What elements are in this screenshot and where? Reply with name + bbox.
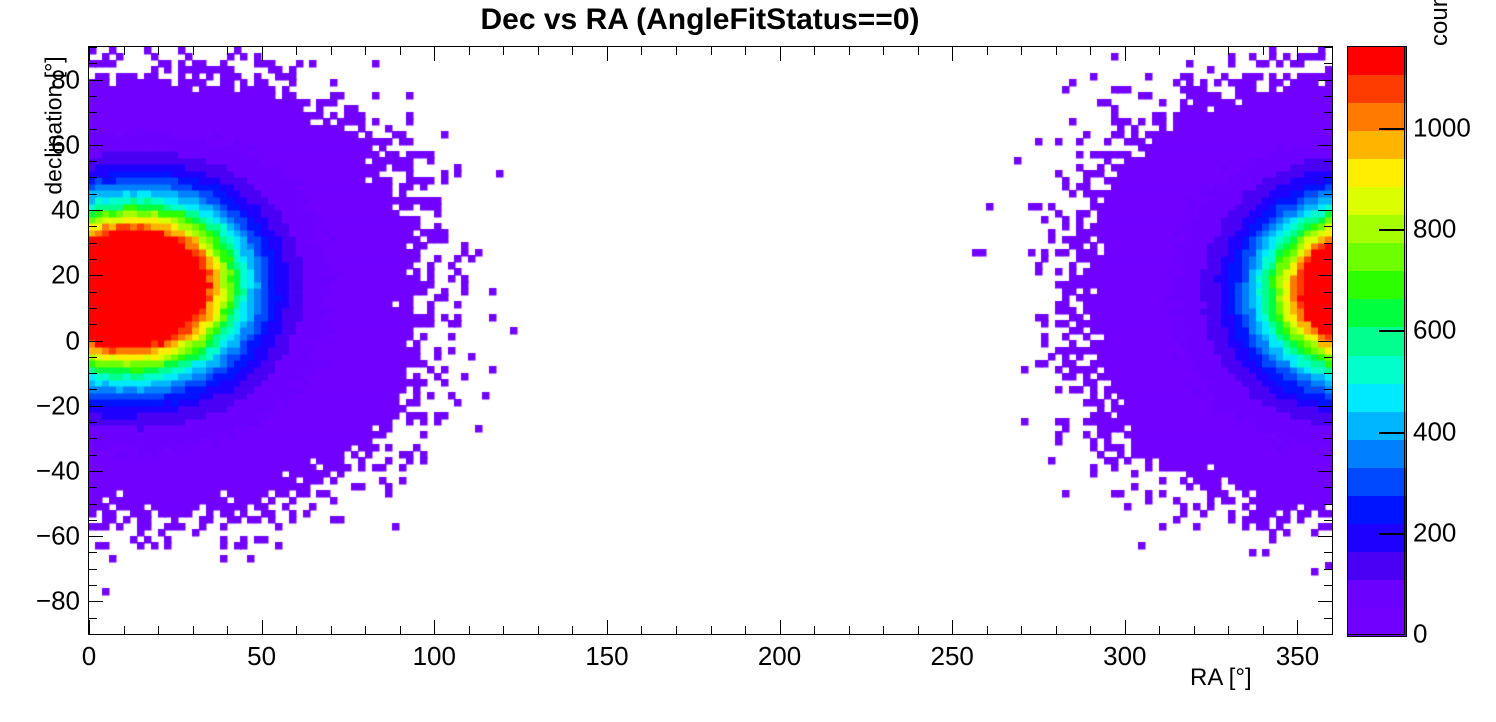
- y-tick: [89, 487, 97, 488]
- y-tick-right: [1324, 177, 1332, 178]
- x-tick-top: [158, 47, 159, 55]
- x-tick: [1194, 626, 1195, 634]
- color-scale-cell: [1348, 159, 1406, 187]
- x-tick: [89, 620, 90, 634]
- y-tick-label: −80: [2, 586, 80, 617]
- x-tick: [365, 626, 366, 634]
- color-scale-cell: [1348, 468, 1406, 496]
- y-tick-right: [1318, 471, 1332, 472]
- y-tick: [89, 520, 97, 521]
- y-tick: [89, 243, 97, 244]
- x-tick: [1263, 626, 1264, 634]
- y-tick: [89, 210, 103, 211]
- y-tick: [89, 601, 103, 602]
- z-tick-label: 400: [1413, 416, 1456, 447]
- y-tick-right: [1324, 324, 1332, 325]
- color-scale-cell: [1348, 75, 1406, 103]
- x-tick-top: [676, 47, 677, 55]
- color-scale-cell: [1348, 524, 1406, 552]
- x-tick-top: [538, 47, 539, 55]
- x-tick-top: [1297, 47, 1298, 61]
- y-tick-right: [1318, 80, 1332, 81]
- x-tick-label: 50: [247, 641, 276, 672]
- x-tick-top: [89, 47, 90, 61]
- x-tick-label: 150: [585, 641, 628, 672]
- z-axis-label: count: [1426, 0, 1454, 46]
- y-tick: [89, 308, 97, 309]
- y-tick-label: −40: [2, 455, 80, 486]
- y-tick-right: [1324, 47, 1332, 48]
- x-tick-label: 350: [1276, 641, 1319, 672]
- x-tick: [158, 626, 159, 634]
- heatmap-canvas: [89, 47, 1332, 634]
- x-tick: [1297, 620, 1298, 634]
- x-tick-top: [745, 47, 746, 55]
- x-tick-top: [1125, 47, 1126, 61]
- x-tick: [745, 626, 746, 634]
- x-tick-top: [469, 47, 470, 55]
- color-scale-cell: [1348, 412, 1406, 440]
- y-tick-label: 20: [2, 260, 80, 291]
- y-tick: [89, 177, 97, 178]
- color-scale-cell: [1348, 103, 1406, 131]
- color-scale-cell: [1348, 243, 1406, 271]
- y-tick-right: [1324, 504, 1332, 505]
- x-tick: [1056, 626, 1057, 634]
- y-tick: [89, 275, 103, 276]
- x-tick: [607, 620, 608, 634]
- y-tick: [89, 226, 97, 227]
- y-tick: [89, 471, 103, 472]
- y-tick: [89, 47, 97, 48]
- y-tick-right: [1324, 634, 1332, 635]
- color-scale-cell: [1348, 187, 1406, 215]
- y-tick-right: [1324, 422, 1332, 423]
- x-tick-top: [1056, 47, 1057, 55]
- y-tick: [89, 112, 97, 113]
- x-tick-top: [503, 47, 504, 55]
- x-tick-top: [1021, 47, 1022, 55]
- y-tick: [89, 145, 103, 146]
- x-tick-top: [262, 47, 263, 61]
- y-tick-right: [1324, 226, 1332, 227]
- color-scale-cell: [1348, 580, 1406, 608]
- x-tick-top: [1228, 47, 1229, 55]
- x-tick-top: [987, 47, 988, 55]
- y-tick: [89, 341, 103, 342]
- color-scale-cells: [1348, 47, 1406, 636]
- y-tick-right: [1324, 63, 1332, 64]
- x-tick: [124, 626, 125, 634]
- x-tick-top: [400, 47, 401, 55]
- x-tick: [331, 626, 332, 634]
- x-tick-top: [365, 47, 366, 55]
- x-tick-top: [1159, 47, 1160, 55]
- color-scale-cell: [1348, 299, 1406, 327]
- x-tick: [503, 626, 504, 634]
- x-tick-top: [572, 47, 573, 55]
- y-tick-right: [1324, 129, 1332, 130]
- x-tick: [572, 626, 573, 634]
- x-tick: [227, 626, 228, 634]
- y-tick-right: [1324, 618, 1332, 619]
- x-tick: [952, 620, 953, 634]
- y-tick-right: [1324, 438, 1332, 439]
- x-tick: [780, 620, 781, 634]
- x-tick: [1125, 620, 1126, 634]
- color-scale-cell: [1348, 47, 1406, 75]
- y-tick: [89, 63, 97, 64]
- page-title: Dec vs RA (AngleFitStatus==0): [0, 3, 1400, 37]
- y-tick-right: [1324, 292, 1332, 293]
- y-tick: [89, 585, 97, 586]
- color-scale-cell: [1348, 356, 1406, 384]
- x-tick: [1332, 626, 1333, 634]
- x-tick-top: [227, 47, 228, 55]
- y-tick-right: [1324, 569, 1332, 570]
- y-tick: [89, 161, 97, 162]
- y-tick: [89, 259, 97, 260]
- y-tick-label: 60: [2, 129, 80, 160]
- z-tick-label: 200: [1413, 517, 1456, 548]
- x-tick: [469, 626, 470, 634]
- y-tick-right: [1324, 308, 1332, 309]
- x-tick-top: [607, 47, 608, 61]
- y-tick-right: [1318, 601, 1332, 602]
- x-tick-top: [124, 47, 125, 55]
- y-tick-right: [1318, 275, 1332, 276]
- x-tick: [1159, 626, 1160, 634]
- x-tick: [538, 626, 539, 634]
- x-tick-top: [711, 47, 712, 55]
- y-tick: [89, 373, 97, 374]
- y-tick-label: −60: [2, 521, 80, 552]
- y-tick: [89, 292, 97, 293]
- x-tick-top: [1194, 47, 1195, 55]
- y-tick-right: [1318, 341, 1332, 342]
- x-tick-top: [641, 47, 642, 55]
- color-scale-cell: [1348, 608, 1406, 636]
- color-scale-cell: [1348, 271, 1406, 299]
- y-tick: [89, 618, 97, 619]
- x-tick: [434, 620, 435, 634]
- z-tick: [1379, 229, 1405, 231]
- y-tick: [89, 455, 97, 456]
- x-tick-top: [296, 47, 297, 55]
- y-tick-label: 40: [2, 195, 80, 226]
- y-tick-right: [1324, 487, 1332, 488]
- color-scale-bar: [1347, 46, 1407, 637]
- y-tick-right: [1324, 194, 1332, 195]
- x-axis-label: RA [°]: [1190, 664, 1252, 692]
- x-tick: [814, 626, 815, 634]
- color-scale-cell: [1348, 384, 1406, 412]
- x-tick: [918, 626, 919, 634]
- y-tick: [89, 194, 97, 195]
- plot-canvas: Dec vs RA (AngleFitStatus==0) declinatio…: [0, 0, 1496, 722]
- x-tick-label: 300: [1103, 641, 1146, 672]
- x-tick: [849, 626, 850, 634]
- y-tick: [89, 438, 97, 439]
- x-tick-label: 200: [758, 641, 801, 672]
- x-tick: [987, 626, 988, 634]
- y-tick-right: [1324, 161, 1332, 162]
- x-tick: [1090, 626, 1091, 634]
- x-tick-top: [780, 47, 781, 61]
- y-tick-right: [1318, 536, 1332, 537]
- y-tick-label: 80: [2, 64, 80, 95]
- x-tick-label: 250: [930, 641, 973, 672]
- x-tick-top: [193, 47, 194, 55]
- y-tick-right: [1324, 357, 1332, 358]
- x-tick-top: [883, 47, 884, 55]
- y-tick: [89, 357, 97, 358]
- y-tick: [89, 536, 103, 537]
- y-tick-right: [1318, 210, 1332, 211]
- x-tick: [296, 626, 297, 634]
- x-tick: [1228, 626, 1229, 634]
- y-tick: [89, 569, 97, 570]
- y-tick: [89, 552, 97, 553]
- x-tick: [193, 626, 194, 634]
- y-axis-label: declination [°]: [41, 36, 68, 216]
- x-tick: [641, 626, 642, 634]
- x-tick-top: [434, 47, 435, 61]
- z-tick: [1379, 533, 1405, 535]
- y-tick-right: [1324, 389, 1332, 390]
- z-tick: [1379, 128, 1405, 130]
- z-tick-label: 0: [1413, 619, 1427, 650]
- z-tick-label: 800: [1413, 214, 1456, 245]
- y-tick-right: [1324, 585, 1332, 586]
- x-tick: [676, 626, 677, 634]
- y-tick: [89, 80, 103, 81]
- y-tick: [89, 504, 97, 505]
- y-tick-right: [1324, 259, 1332, 260]
- x-tick-label: 0: [82, 641, 96, 672]
- x-tick-top: [952, 47, 953, 61]
- y-tick-right: [1324, 552, 1332, 553]
- x-tick: [883, 626, 884, 634]
- plot-frame: [88, 46, 1333, 635]
- y-tick-label: −20: [2, 390, 80, 421]
- y-tick-right: [1324, 112, 1332, 113]
- y-tick: [89, 129, 97, 130]
- color-scale-cell: [1348, 496, 1406, 524]
- x-tick-top: [849, 47, 850, 55]
- z-tick-label: 600: [1413, 315, 1456, 346]
- x-tick-top: [1090, 47, 1091, 55]
- x-tick-top: [918, 47, 919, 55]
- y-tick-right: [1324, 455, 1332, 456]
- y-tick: [89, 96, 97, 97]
- y-tick: [89, 406, 103, 407]
- x-tick-top: [814, 47, 815, 55]
- y-tick-right: [1318, 406, 1332, 407]
- z-tick: [1379, 432, 1405, 434]
- x-tick-top: [1332, 47, 1333, 55]
- x-tick: [1021, 626, 1022, 634]
- y-tick-right: [1324, 520, 1332, 521]
- y-tick-label: 0: [2, 325, 80, 356]
- y-tick: [89, 422, 97, 423]
- color-scale-cell: [1348, 131, 1406, 159]
- y-tick-right: [1324, 373, 1332, 374]
- z-tick-label: 1000: [1413, 112, 1471, 143]
- y-tick-right: [1324, 96, 1332, 97]
- color-scale-cell: [1348, 552, 1406, 580]
- x-tick: [262, 620, 263, 634]
- y-tick: [89, 389, 97, 390]
- y-tick-right: [1318, 145, 1332, 146]
- y-tick: [89, 634, 97, 635]
- x-tick: [400, 626, 401, 634]
- x-tick-top: [331, 47, 332, 55]
- y-tick-right: [1324, 243, 1332, 244]
- x-tick-top: [1263, 47, 1264, 55]
- z-tick: [1379, 330, 1405, 332]
- y-tick: [89, 324, 97, 325]
- x-tick-label: 100: [413, 641, 456, 672]
- color-scale-cell: [1348, 440, 1406, 468]
- x-tick: [711, 626, 712, 634]
